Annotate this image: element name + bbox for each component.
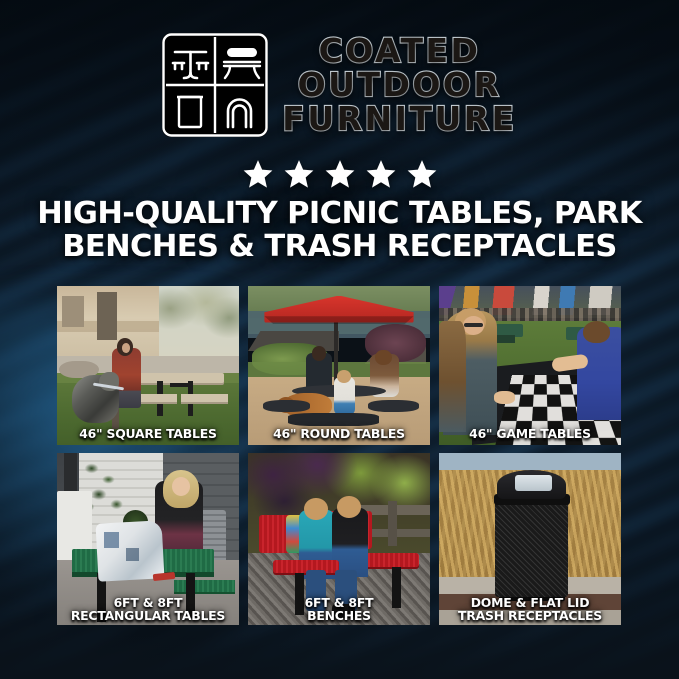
tile-caption-line-2: TRASH RECEPTACLES: [439, 609, 621, 622]
logo-line-furniture: FURNITURE: [282, 102, 516, 135]
logo-line-coated: COATED: [319, 34, 481, 67]
star-icon: [365, 158, 397, 190]
tile-caption-line-1: 46" SQUARE TABLES: [57, 427, 239, 440]
headline: HIGH-QUALITY PICNIC TABLES, PARK BENCHES…: [30, 198, 649, 264]
star-icon: [406, 158, 438, 190]
product-tile-game-tables[interactable]: 46" GAME TABLES: [439, 286, 621, 445]
tile-caption: 6FT & 8FT BENCHES: [248, 596, 430, 622]
product-tile-grid: 46" SQUARE TABLES: [57, 286, 623, 625]
scene-round-tables: [248, 286, 430, 445]
scene-game-tables: [439, 286, 621, 445]
tile-caption-line-2: RECTANGULAR TABLES: [57, 609, 239, 622]
logo-wordmark: COATED OUTDOOR FURNITURE: [282, 34, 516, 137]
product-tile-square-tables[interactable]: 46" SQUARE TABLES: [57, 286, 239, 445]
headline-line-1: HIGH-QUALITY PICNIC TABLES, PARK: [30, 198, 649, 231]
scene-square-tables: [57, 286, 239, 445]
tile-caption: 46" ROUND TABLES: [248, 427, 430, 440]
tile-caption: 6FT & 8FT RECTANGULAR TABLES: [57, 596, 239, 622]
star-icon: [242, 158, 274, 190]
logo-line-outdoor: OUTDOOR: [298, 68, 502, 101]
tile-caption-line-1: 46" GAME TABLES: [439, 427, 621, 440]
product-tile-round-tables[interactable]: 46" ROUND TABLES: [248, 286, 430, 445]
product-poster: COATED OUTDOOR FURNITURE HIGH-QUALITY PI…: [0, 0, 679, 679]
logo-mark-icon: [162, 33, 268, 137]
product-tile-rectangular-tables[interactable]: 6FT & 8FT RECTANGULAR TABLES: [57, 453, 239, 625]
star-rating: [0, 156, 679, 192]
star-icon: [324, 158, 356, 190]
tile-caption-line-2: BENCHES: [248, 609, 430, 622]
brand-logo: COATED OUTDOOR FURNITURE: [0, 26, 679, 144]
tile-caption: DOME & FLAT LID TRASH RECEPTACLES: [439, 596, 621, 622]
star-icon: [283, 158, 315, 190]
tile-caption-line-1: 46" ROUND TABLES: [248, 427, 430, 440]
tile-caption: 46" GAME TABLES: [439, 427, 621, 440]
product-tile-trash-receptacles[interactable]: DOME & FLAT LID TRASH RECEPTACLES: [439, 453, 621, 625]
tile-caption: 46" SQUARE TABLES: [57, 427, 239, 440]
product-tile-benches[interactable]: 6FT & 8FT BENCHES: [248, 453, 430, 625]
headline-line-2: BENCHES & TRASH RECEPTACLES: [30, 231, 649, 264]
